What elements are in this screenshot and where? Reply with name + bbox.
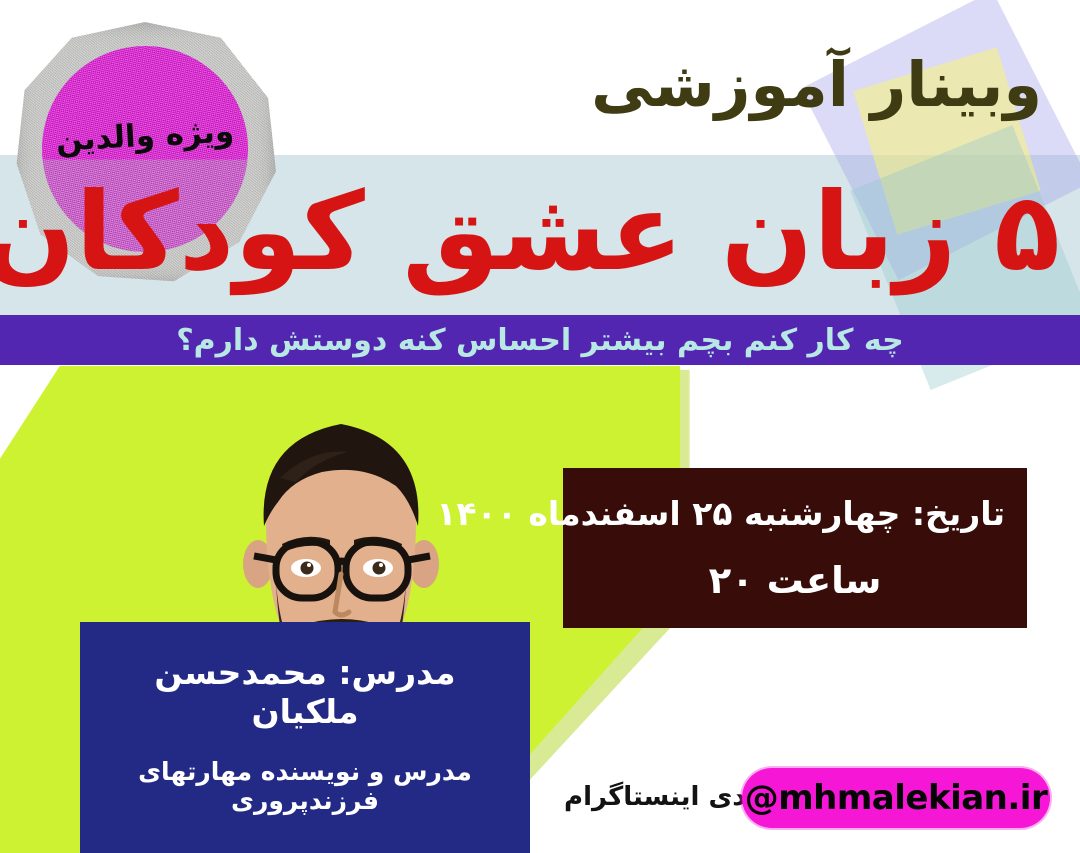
speaker-name: مدرس: محمدحسن ملکیان bbox=[104, 653, 506, 731]
speaker-box: مدرس: محمدحسن ملکیان مدرس و نویسنده مهار… bbox=[80, 622, 530, 853]
page-title: ۵ زبان عشق کودکان bbox=[60, 168, 1060, 298]
instagram-handle-pill[interactable]: @mhmalekian.ir bbox=[742, 768, 1050, 828]
instagram-label: آیدی اینستاگرام bbox=[576, 782, 766, 812]
instagram-handle: @mhmalekian.ir bbox=[745, 778, 1047, 818]
schedule-box: تاریخ: چهارشنبه ۲۵ اسفندماه ۱۴۰۰ ساعت ۲۰ bbox=[563, 468, 1027, 628]
webinar-poster: ویژه والدین وبینار آموزشی ۵ زبان عشق کود… bbox=[0, 0, 1080, 853]
subtitle-text: چه کار کنم بچم بیشتر احساس کنه دوستش دار… bbox=[0, 322, 1080, 360]
event-date: تاریخ: چهارشنبه ۲۵ اسفندماه ۱۴۰۰ bbox=[585, 494, 1005, 533]
event-time: ساعت ۲۰ bbox=[585, 559, 1005, 602]
kicker-text: وبینار آموزشی bbox=[422, 52, 1042, 117]
speaker-role: مدرس و نویسنده مهارتهای فرزندپروری bbox=[104, 757, 506, 815]
